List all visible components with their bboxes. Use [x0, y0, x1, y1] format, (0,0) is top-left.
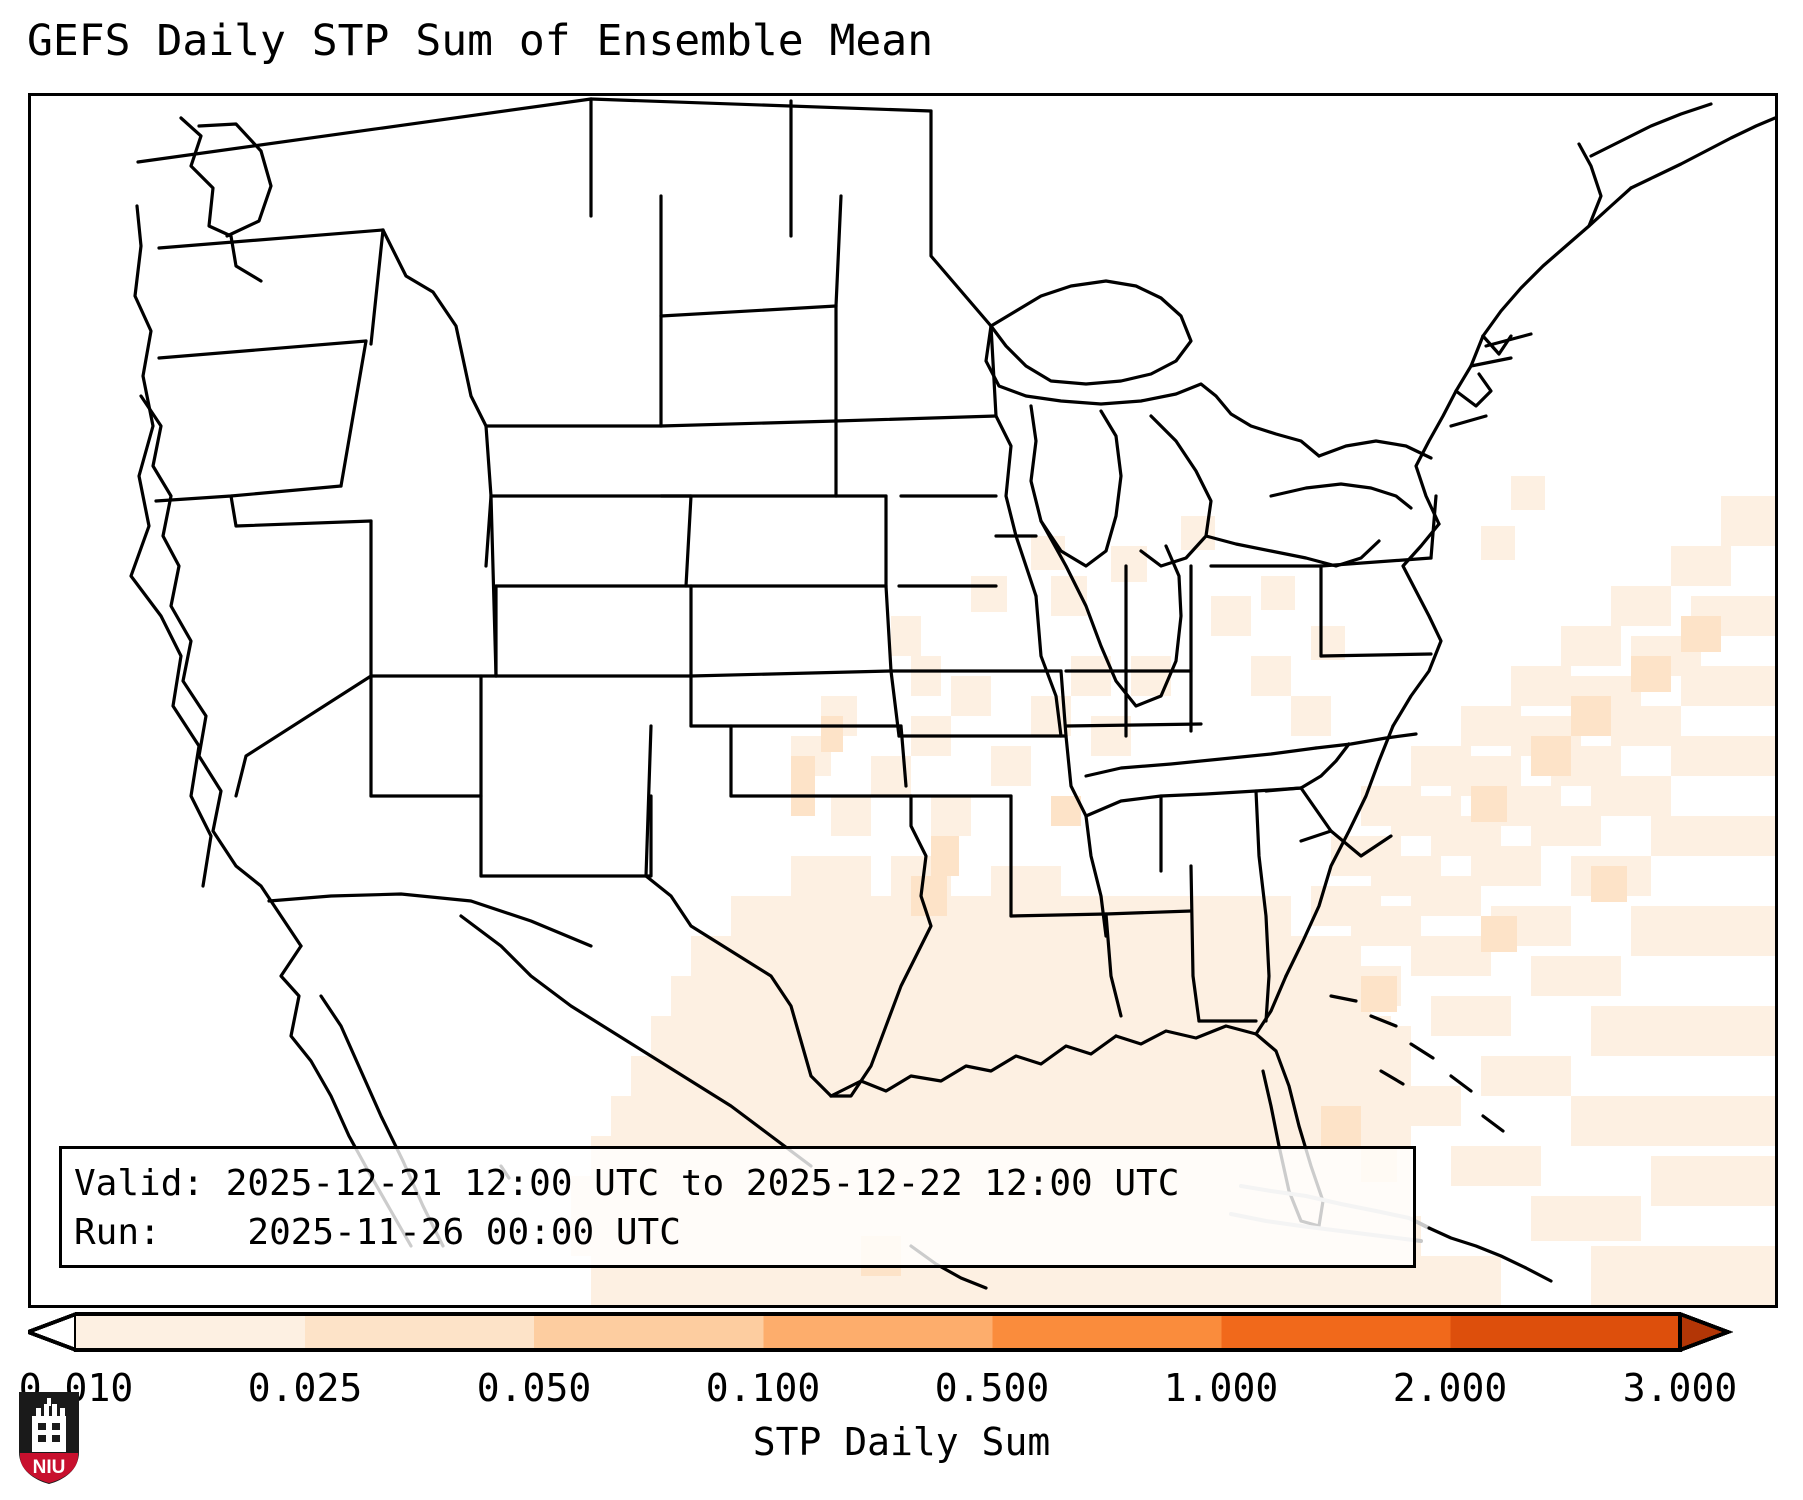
colorbar-extend-min [28, 1314, 76, 1350]
colorbar-swatches [28, 1312, 1778, 1352]
colorbar-tick-5: 1.000 [1164, 1365, 1278, 1411]
niu-logo: NIU [16, 1390, 82, 1486]
colorbar[interactable] [28, 1312, 1778, 1352]
colorbar-segment-6 [1222, 1314, 1451, 1350]
colorbar-segment-2 [305, 1314, 534, 1350]
colorbar-tick-3: 0.100 [706, 1365, 820, 1411]
colorbar-axis-label: STP Daily Sum [0, 1418, 1803, 1466]
colorbar-tick-4: 0.500 [935, 1365, 1049, 1411]
colorbar-segment-4 [763, 1314, 992, 1350]
map-panel [28, 93, 1778, 1308]
run-time-text: Run: 2025-11-26 00:00 UTC [74, 1208, 1413, 1257]
logo-text: NIU [33, 1457, 66, 1478]
colorbar-tick-2: 0.050 [477, 1365, 591, 1411]
colorbar-tick-6: 2.000 [1393, 1365, 1507, 1411]
map-canvas [31, 96, 1775, 1305]
info-box: Valid: 2025-12-21 12:00 UTC to 2025-12-2… [59, 1146, 1416, 1268]
colorbar-tick-labels: 0.010 0.025 0.050 0.100 0.500 1.000 2.00… [28, 1365, 1778, 1411]
colorbar-tick-7: 3.000 [1623, 1365, 1737, 1411]
figure-root: GEFS Daily STP Sum of Ensemble Mean [0, 0, 1803, 1500]
colorbar-segment-7 [1451, 1314, 1680, 1350]
colorbar-extend-max [1680, 1314, 1728, 1350]
colorbar-segment-1 [76, 1314, 305, 1350]
colorbar-tick-1: 0.025 [248, 1365, 362, 1411]
page-title: GEFS Daily STP Sum of Ensemble Mean [27, 14, 933, 68]
colorbar-segment-3 [534, 1314, 763, 1350]
valid-time-text: Valid: 2025-12-21 12:00 UTC to 2025-12-2… [74, 1159, 1413, 1208]
colorbar-segment-5 [992, 1314, 1221, 1350]
